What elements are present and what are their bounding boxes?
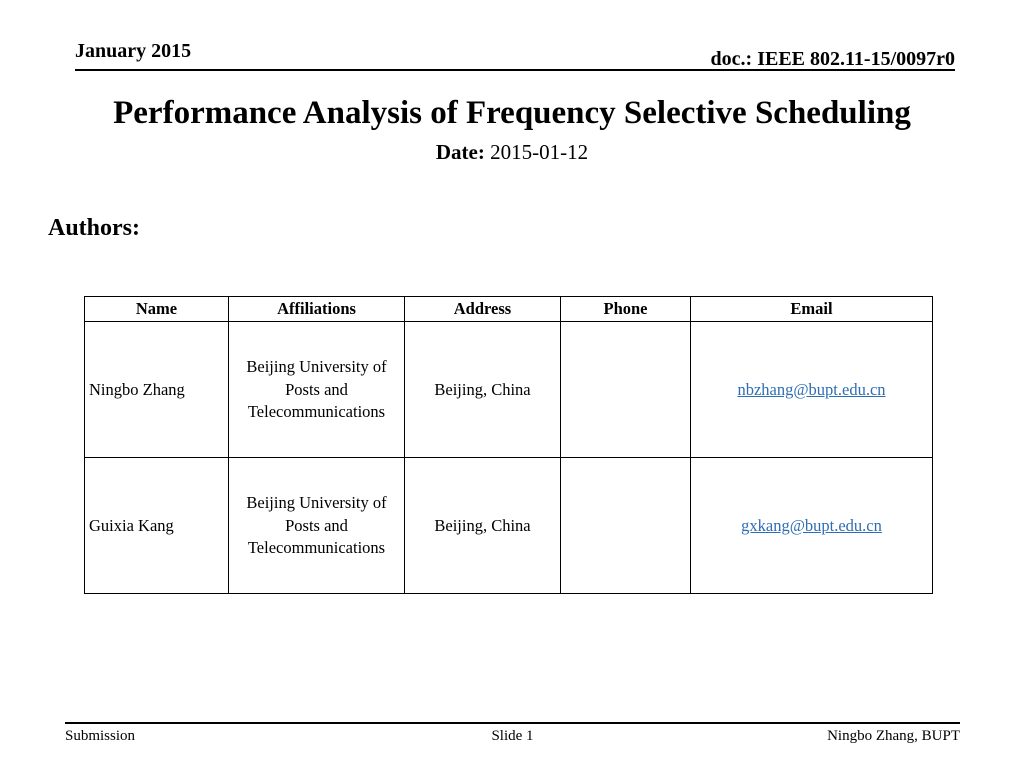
slide-header: January 2015 doc.: IEEE 802.11-15/0097r0 <box>75 40 955 72</box>
date-value: 2015-01-12 <box>490 140 588 164</box>
header-divider-rule <box>75 69 955 71</box>
column-header-phone: Phone <box>561 297 691 322</box>
authors-label: Authors: <box>48 215 140 242</box>
column-header-name: Name <box>85 297 229 322</box>
cell-address: Beijing, China <box>405 322 561 458</box>
authors-table: Name Affiliations Address Phone Email Ni… <box>84 296 933 594</box>
table-header-row: Name Affiliations Address Phone Email <box>85 297 933 322</box>
footer-slide-number: Slide 1 <box>65 728 960 745</box>
footer-divider-rule <box>65 722 960 724</box>
cell-address: Beijing, China <box>405 458 561 594</box>
header-document-id: doc.: IEEE 802.11-15/0097r0 <box>711 48 955 71</box>
slide-footer: Submission Slide 1 Ningbo Zhang, BUPT <box>65 728 960 750</box>
date-label: Date: <box>436 140 485 164</box>
column-header-affiliations: Affiliations <box>229 297 405 322</box>
cell-phone <box>561 458 691 594</box>
table-row: Ningbo Zhang Beijing University of Posts… <box>85 322 933 458</box>
table-row: Guixia Kang Beijing University of Posts … <box>85 458 933 594</box>
column-header-email: Email <box>691 297 933 322</box>
cell-name: Guixia Kang <box>85 458 229 594</box>
cell-email: nbzhang@bupt.edu.cn <box>691 322 933 458</box>
cell-phone <box>561 322 691 458</box>
email-link[interactable]: gxkang@bupt.edu.cn <box>741 516 882 535</box>
column-header-address: Address <box>405 297 561 322</box>
page-title: Performance Analysis of Frequency Select… <box>112 92 912 134</box>
title-block: Performance Analysis of Frequency Select… <box>112 92 912 165</box>
slide-date-line: Date: 2015-01-12 <box>112 140 912 165</box>
cell-name: Ningbo Zhang <box>85 322 229 458</box>
email-link[interactable]: nbzhang@bupt.edu.cn <box>737 380 885 399</box>
cell-affiliation: Beijing University of Posts and Telecomm… <box>229 322 405 458</box>
cell-affiliation: Beijing University of Posts and Telecomm… <box>229 458 405 594</box>
cell-email: gxkang@bupt.edu.cn <box>691 458 933 594</box>
footer-author-affiliation: Ningbo Zhang, BUPT <box>827 728 960 745</box>
header-date: January 2015 <box>75 40 191 63</box>
authors-table-container: Name Affiliations Address Phone Email Ni… <box>84 296 932 594</box>
